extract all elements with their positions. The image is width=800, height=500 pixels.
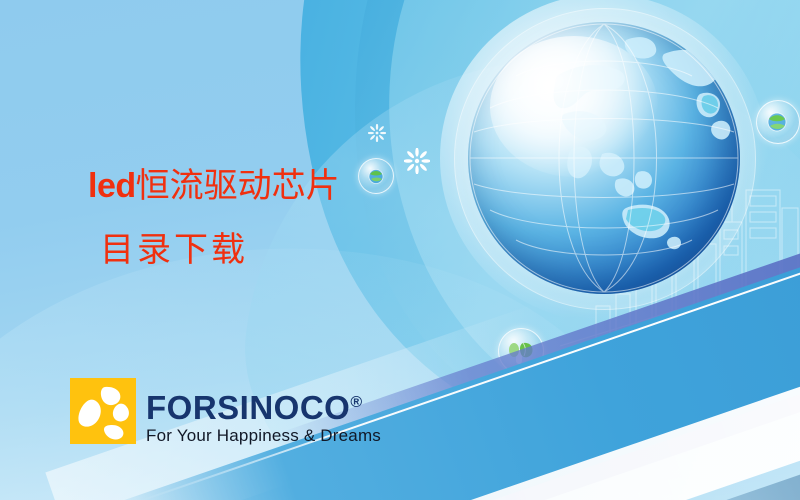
earth-globe-icon bbox=[468, 22, 740, 294]
bubble-globe-icon bbox=[756, 100, 800, 144]
daisy-sparkle-icon bbox=[368, 124, 386, 142]
ribbon-steel bbox=[556, 389, 800, 500]
registered-mark: ® bbox=[350, 394, 362, 411]
brand-word: FORSINOCO bbox=[146, 389, 350, 426]
headline-line-1: led恒流驱动芯片 bbox=[88, 166, 340, 206]
brand-tagline: For Your Happiness & Dreams bbox=[146, 426, 381, 446]
bubble-leaf-glyph bbox=[499, 329, 543, 373]
headline-lead: led bbox=[88, 167, 136, 205]
flower-glyph bbox=[70, 378, 136, 444]
logo-text: FORSINOCO® For Your Happiness & Dreams bbox=[146, 378, 381, 446]
bubble-globe-glyph bbox=[359, 159, 393, 193]
headline-line-2: 目录下载 bbox=[100, 230, 340, 270]
bubble-globe-icon bbox=[358, 158, 394, 194]
four-petal-flower-icon bbox=[70, 378, 136, 444]
daisy-sparkle-icon bbox=[404, 148, 430, 174]
brand-logo: FORSINOCO® For Your Happiness & Dreams bbox=[70, 378, 381, 446]
promo-banner: led恒流驱动芯片 目录下载 FORSINOCO® For Your Happi… bbox=[0, 0, 800, 500]
headline-line-1-rest: 恒流驱动芯片 bbox=[136, 167, 340, 205]
globe-outer-ring bbox=[454, 8, 756, 310]
brand-name: FORSINOCO® bbox=[146, 386, 381, 424]
headline: led恒流驱动芯片 目录下载 bbox=[88, 166, 340, 270]
bubble-globe-glyph bbox=[757, 101, 799, 143]
bubble-leaf-icon bbox=[498, 328, 544, 374]
